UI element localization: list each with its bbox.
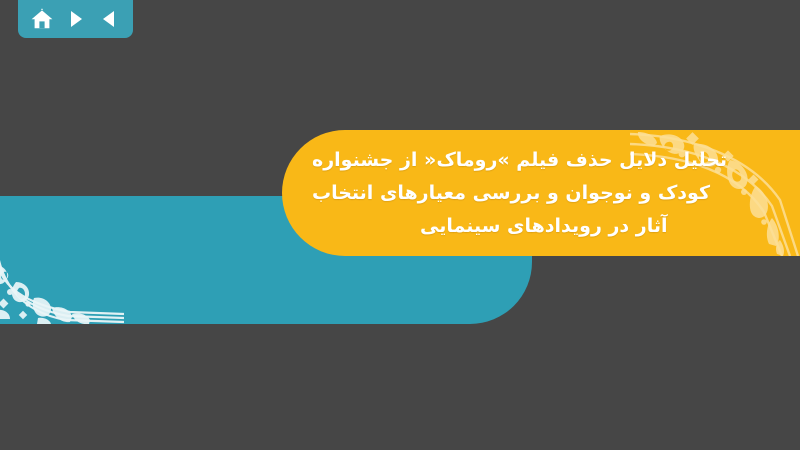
- arabesque-ornament-teal: [0, 232, 124, 324]
- triangle-right-icon: [65, 8, 87, 30]
- triangle-left-icon: [98, 8, 120, 30]
- previous-slide-button[interactable]: [96, 6, 122, 32]
- next-slide-button[interactable]: [63, 6, 89, 32]
- slide-title: تحلیل دلایل حذف فیلم »روماک« از جشنواره …: [282, 130, 800, 256]
- home-button[interactable]: [29, 6, 55, 32]
- home-icon: [30, 7, 54, 31]
- title-line-1: تحلیل دلایل حذف فیلم »روماک« از جشنواره: [312, 144, 727, 177]
- title-banner: تحلیل دلایل حذف فیلم »روماک« از جشنواره …: [282, 130, 800, 256]
- title-line-3: آثار در رویدادهای سینمایی: [312, 210, 668, 243]
- slide-navigation-bar: [18, 0, 133, 38]
- title-line-2: کودک و نوجوان و بررسی معیارهای انتخاب: [312, 177, 710, 210]
- slide-canvas: تحلیل دلایل حذف فیلم »روماک« از جشنواره …: [0, 0, 800, 450]
